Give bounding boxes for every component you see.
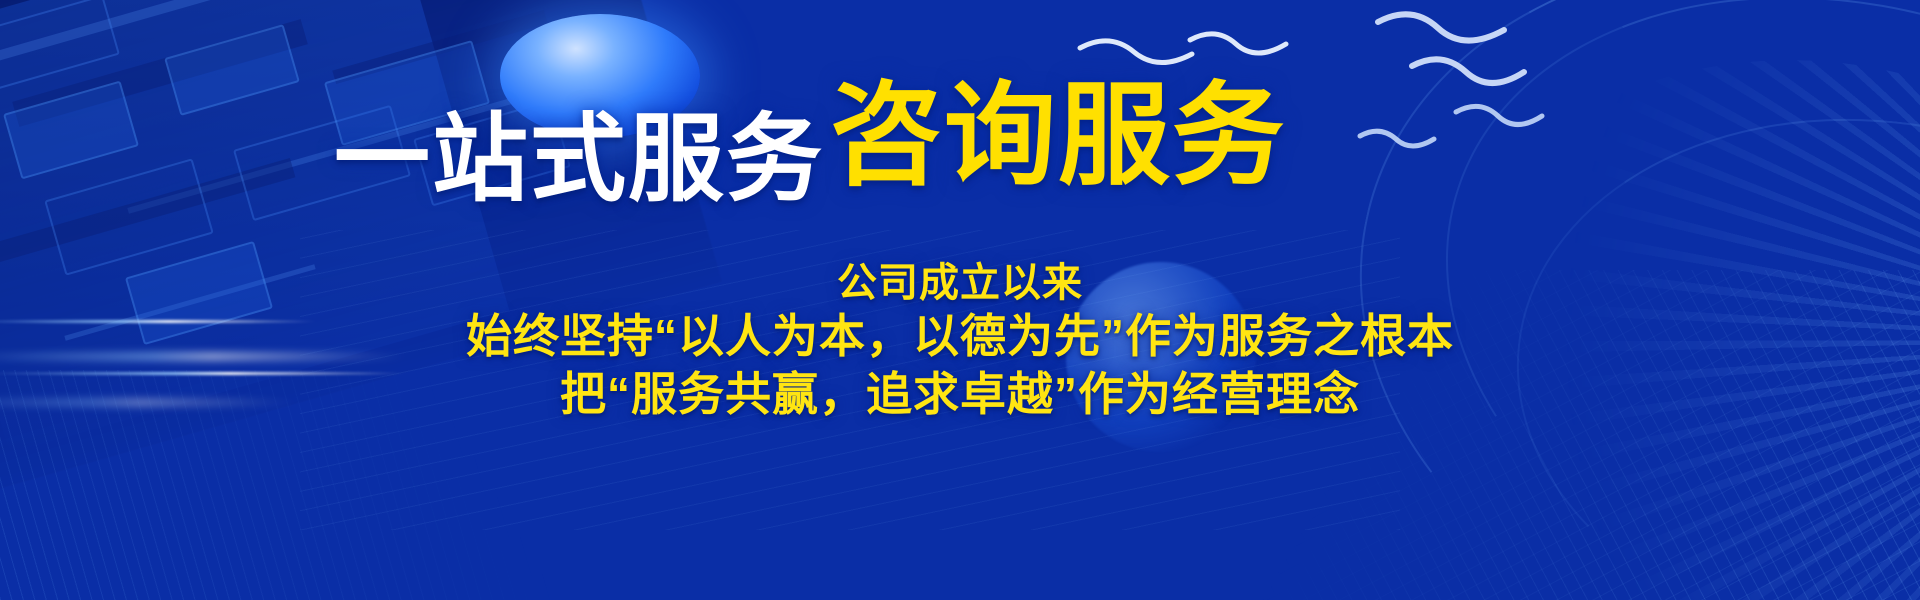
headline-block: 一站式服务 咨询服务 [0,80,1920,204]
body-line-1: 公司成立以来 [0,258,1920,308]
body-line-2: 始终坚持“以人为本，以德为先”作为服务之根本 [0,308,1920,366]
headline-primary: 一站式服务 [334,112,824,208]
promo-banner: 一站式服务 咨询服务 公司成立以来 始终坚持“以人为本，以德为先”作为服务之根本… [0,0,1920,600]
diagonal-strip [0,0,314,69]
diagonal-strip [332,10,547,84]
body-line-3: 把“服务共赢，追求卓越”作为经营理念 [0,366,1920,424]
bird-icon [1080,41,1192,63]
decorative-frame [0,0,120,91]
headline-accent: 咨询服务 [830,80,1286,192]
bird-icon [1190,34,1286,53]
bird-icon [1378,14,1504,40]
body-text-block: 公司成立以来 始终坚持“以人为本，以德为先”作为服务之根本 把“服务共赢，追求卓… [0,258,1920,424]
